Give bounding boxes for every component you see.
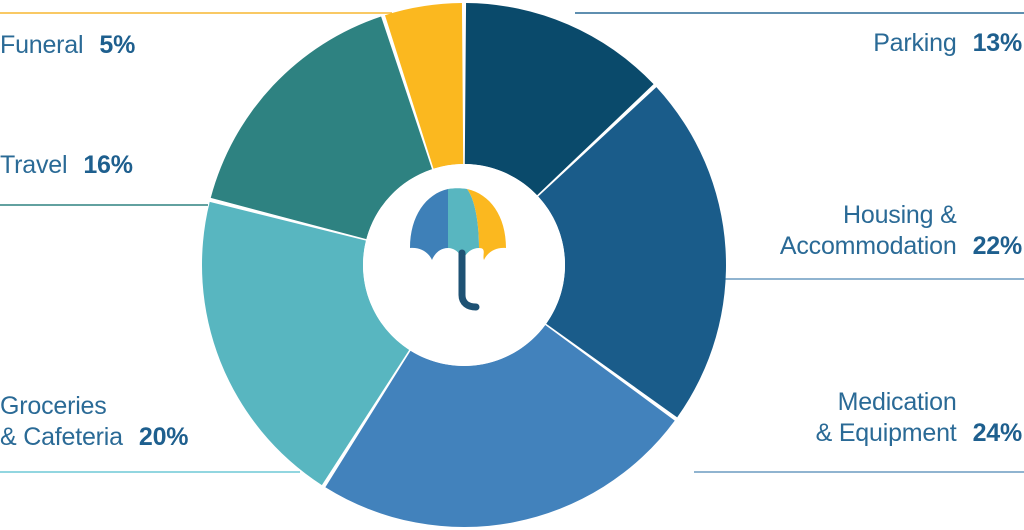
label-funeral-text: Funeral xyxy=(0,30,83,61)
label-travel-line1: Travel xyxy=(0,150,67,181)
label-parking-text: Parking xyxy=(873,28,956,59)
label-housing-line2: Accommodation xyxy=(780,231,957,262)
label-groceries-value: 20% xyxy=(139,422,188,453)
label-medication: Medication & Equipment 24% xyxy=(816,387,1022,449)
label-parking: Parking 13% xyxy=(873,28,1022,59)
label-parking-value: 13% xyxy=(973,28,1022,59)
label-funeral-line1: Funeral xyxy=(0,30,83,61)
label-groceries-line2: & Cafeteria xyxy=(0,422,123,453)
label-medication-value: 24% xyxy=(973,418,1022,449)
label-travel-value: 16% xyxy=(83,150,132,181)
label-housing: Housing & Accommodation 22% xyxy=(780,200,1022,262)
label-groceries: Groceries & Cafeteria 20% xyxy=(0,391,188,453)
label-parking-line1: Parking xyxy=(873,28,956,59)
label-funeral-value: 5% xyxy=(99,30,135,61)
label-housing-value: 22% xyxy=(973,231,1022,262)
label-travel-text: Travel xyxy=(0,150,67,181)
label-funeral: Funeral 5% xyxy=(0,30,135,61)
label-medication-line2: & Equipment xyxy=(816,418,957,449)
label-groceries-line1: Groceries xyxy=(0,391,123,422)
label-groceries-text: Groceries & Cafeteria xyxy=(0,391,123,453)
label-housing-text: Housing & Accommodation xyxy=(780,200,957,262)
label-medication-text: Medication & Equipment xyxy=(816,387,957,449)
label-housing-line1: Housing & xyxy=(780,200,957,231)
donut-chart-figure: Funeral 5% Travel 16% Groceries & Cafete… xyxy=(0,0,1024,530)
label-medication-line1: Medication xyxy=(816,387,957,418)
label-travel: Travel 16% xyxy=(0,150,133,181)
